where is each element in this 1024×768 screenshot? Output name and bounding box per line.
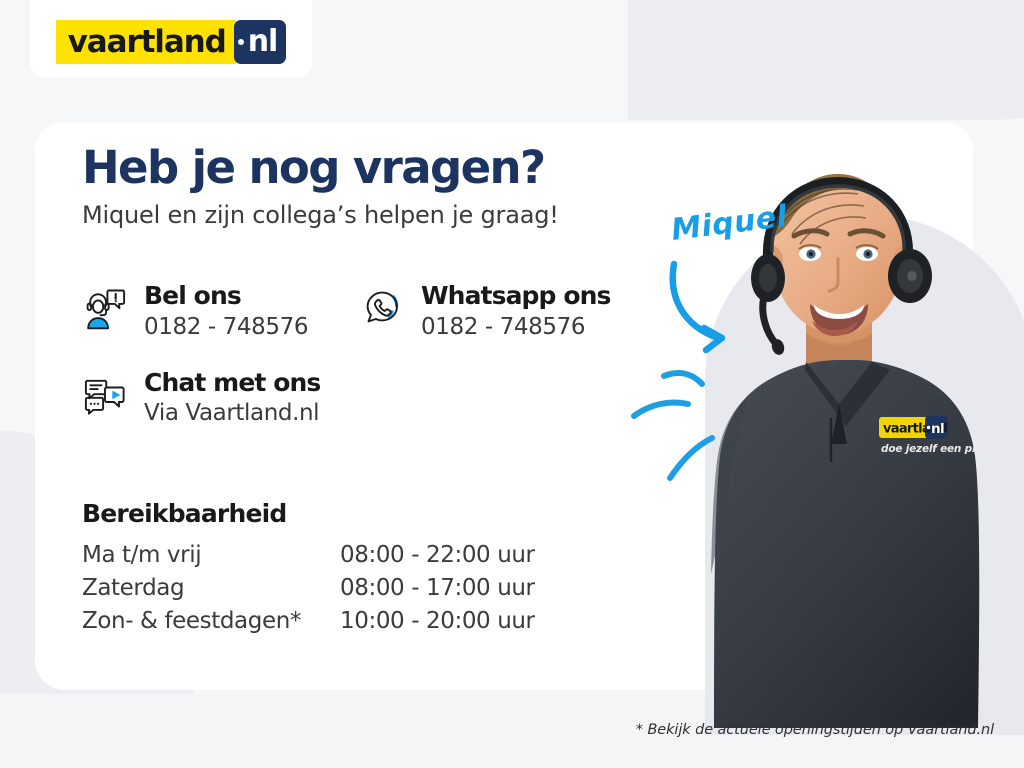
contact-chat-title: Chat met ons — [144, 369, 320, 398]
logo-lockup: vaartland nl — [56, 20, 287, 64]
opening-hours-day: Zon- & feestdagen* — [82, 608, 340, 634]
contact-whatsapp-text: Whatsapp ons 0182 - 748576 — [421, 282, 611, 343]
svg-text:nl: nl — [931, 421, 944, 437]
opening-hours-day: Ma t/m vrij — [82, 542, 340, 568]
contact-chat-value: Via Vaartland.nl — [144, 399, 320, 429]
opening-hours-row: Ma t/m vrij 08:00 - 22:00 uur — [82, 542, 602, 568]
opening-hours-row: Zaterdag 08:00 - 17:00 uur — [82, 575, 602, 601]
opening-hours-title: Bereikbaarheid — [82, 499, 602, 528]
contact-whatsapp-title: Whatsapp ons — [421, 282, 611, 311]
promo-banner: vaartland nl Heb je nog vragen? Miquel e… — [0, 0, 1024, 768]
background-shape-top-right — [628, 0, 1024, 120]
opening-hours-time: 08:00 - 22:00 uur — [340, 542, 535, 568]
page-title: Heb je nog vragen? — [82, 144, 682, 193]
contact-methods: Bel ons 0182 - 748576 Whats — [82, 282, 702, 429]
contact-call-title: Bel ons — [144, 282, 308, 311]
chat-bubbles-play-icon — [82, 373, 128, 419]
headset-agent-icon — [82, 286, 128, 332]
opening-hours: Bereikbaarheid Ma t/m vrij 08:00 - 22:00… — [82, 499, 602, 641]
brand-logo[interactable]: vaartland nl — [30, 0, 312, 78]
footnote-text: * Bekijk de actuele openingstijden op Va… — [636, 722, 994, 738]
page-subtitle: Miquel en zijn collega’s helpen je graag… — [82, 201, 682, 229]
whatsapp-phone-bubble-icon — [359, 286, 405, 332]
opening-hours-time: 10:00 - 20:00 uur — [340, 608, 535, 634]
card-heading-group: Heb je nog vragen? Miquel en zijn colleg… — [82, 144, 682, 229]
contact-row: Chat met ons Via Vaartland.nl — [82, 369, 702, 430]
logo-wordmark: vaartland — [68, 27, 226, 58]
opening-hours-day: Zaterdag — [82, 575, 340, 601]
logo-tld: nl — [248, 27, 278, 57]
logo-dot-icon — [238, 39, 244, 45]
contact-call-value: 0182 - 748576 — [144, 313, 308, 343]
contact-call-text: Bel ons 0182 - 748576 — [144, 282, 308, 343]
contact-whatsapp-value: 0182 - 748576 — [421, 313, 611, 343]
contact-chat[interactable]: Chat met ons Via Vaartland.nl — [82, 369, 359, 430]
contact-whatsapp[interactable]: Whatsapp ons 0182 - 748576 — [359, 282, 659, 343]
logo-navy-block: nl — [234, 20, 287, 64]
logo-yellow-block: vaartland — [56, 20, 236, 64]
opening-hours-row: Zon- & feestdagen* 10:00 - 20:00 uur — [82, 608, 602, 634]
contact-row: Bel ons 0182 - 748576 Whats — [82, 282, 702, 343]
svg-text:doe jezelf een plezier: doe jezelf een plezier — [881, 443, 1005, 455]
contact-call[interactable]: Bel ons 0182 - 748576 — [82, 282, 359, 343]
opening-hours-time: 08:00 - 17:00 uur — [340, 575, 535, 601]
contact-chat-text: Chat met ons Via Vaartland.nl — [144, 369, 320, 430]
